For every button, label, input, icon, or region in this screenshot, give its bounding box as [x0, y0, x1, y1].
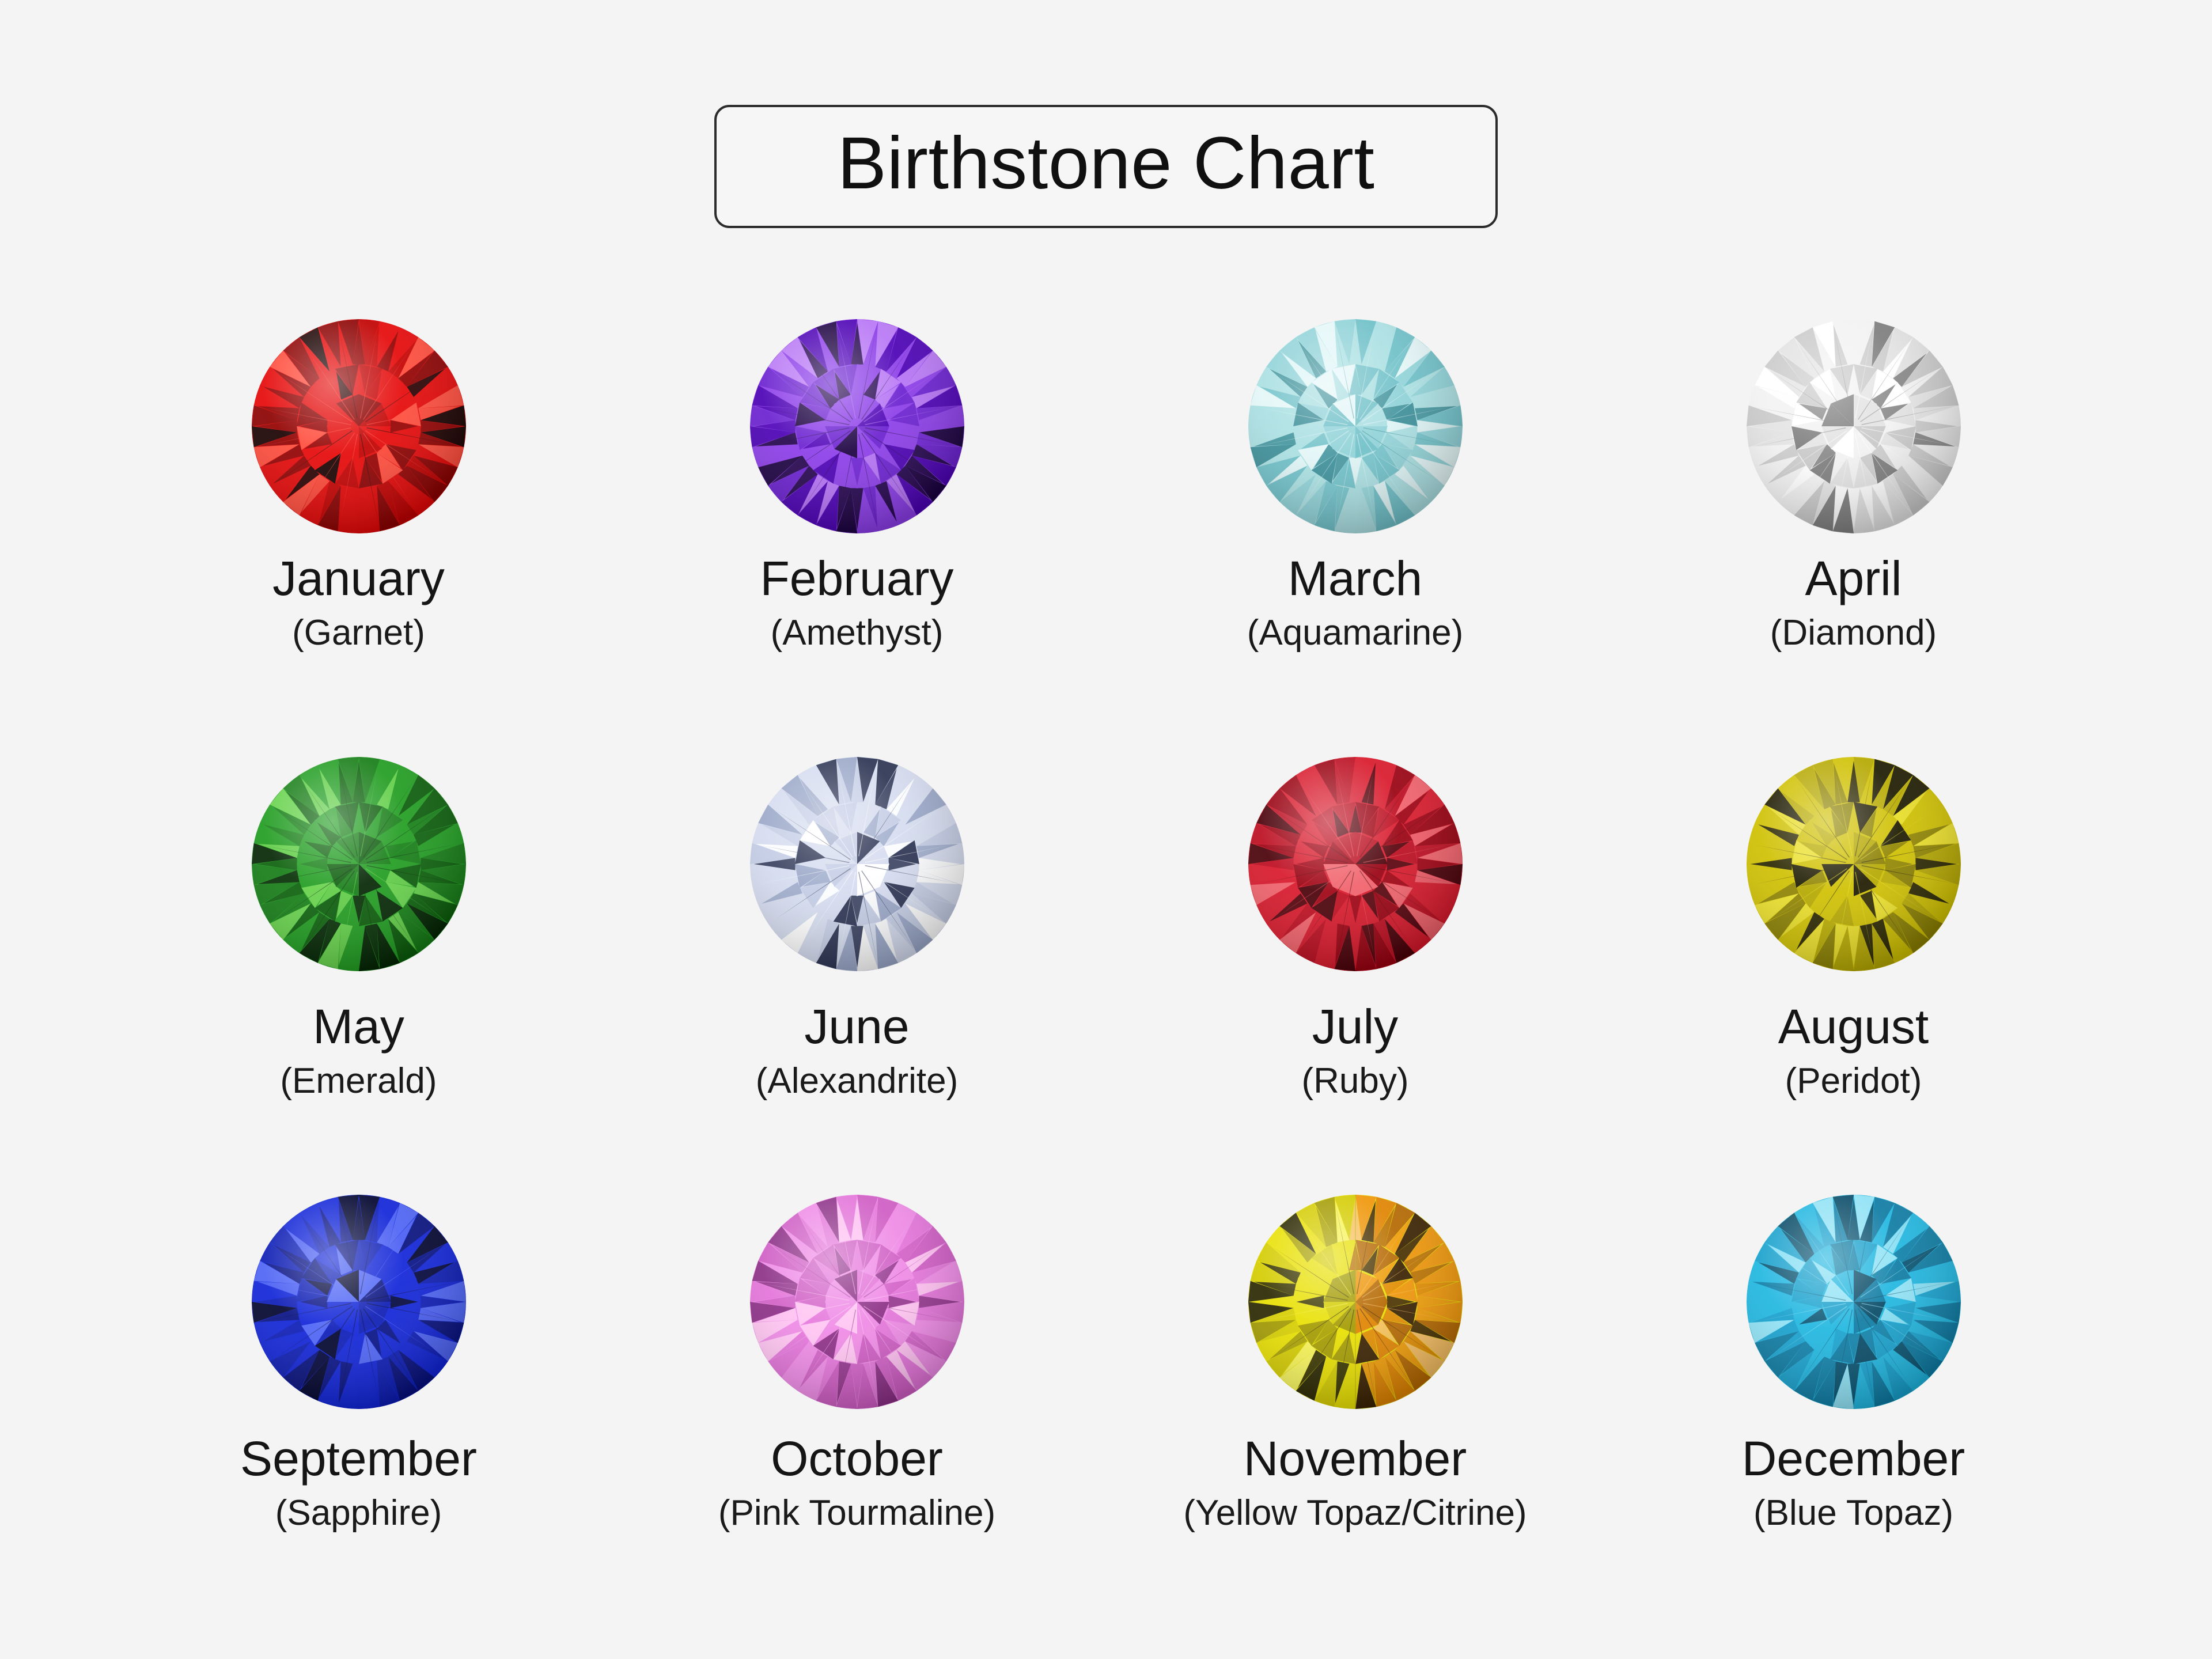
birthstone-cell-april[interactable]: April(Diamond): [1604, 311, 2103, 749]
round-brilliant-gem-icon: [1240, 749, 1471, 979]
month-label: December: [1742, 1434, 1965, 1483]
stone-label: (Diamond): [1770, 615, 1937, 651]
month-label: July: [1312, 1002, 1398, 1051]
round-brilliant-gem-icon: [1738, 1187, 1969, 1417]
stone-label: (Garnet): [292, 615, 425, 651]
month-label: November: [1244, 1434, 1467, 1483]
stone-label: (Amethyst): [771, 615, 944, 651]
round-brilliant-gem-icon: [742, 749, 972, 979]
birthstone-chart-root: Birthstone Chart January(Garnet) Februar…: [0, 0, 2212, 1659]
round-brilliant-gem-icon: [742, 311, 972, 541]
stone-label: (Peridot): [1785, 1063, 1922, 1099]
round-brilliant-gem-icon: [742, 1187, 972, 1417]
stone-label: (Alexandrite): [756, 1063, 958, 1099]
stone-label: (Yellow Topaz/Citrine): [1183, 1495, 1527, 1531]
month-label: May: [313, 1002, 404, 1051]
month-label: June: [804, 1002, 909, 1051]
round-brilliant-gem-icon: [1738, 311, 1969, 541]
birthstone-cell-july[interactable]: July(Ruby): [1106, 749, 1604, 1187]
birthstone-cell-november[interactable]: November(Yellow Topaz/Citrine): [1106, 1187, 1604, 1624]
round-brilliant-gem-icon: [244, 311, 474, 541]
round-brilliant-gem-icon: [244, 749, 474, 979]
month-label: October: [771, 1434, 943, 1483]
stone-label: (Sapphire): [275, 1495, 442, 1531]
birthstone-grid: January(Garnet) February(Amethyst) March…: [109, 311, 2103, 1624]
month-label: April: [1805, 554, 1902, 603]
round-brilliant-gem-icon: [1240, 311, 1471, 541]
month-label: January: [272, 554, 445, 603]
month-label: September: [240, 1434, 477, 1483]
month-label: March: [1288, 554, 1422, 603]
stone-label: (Blue Topaz): [1753, 1495, 1953, 1531]
month-label: February: [760, 554, 953, 603]
stone-label: (Aquamarine): [1247, 615, 1464, 651]
round-brilliant-gem-icon: [1240, 1187, 1471, 1417]
stone-label: (Ruby): [1301, 1063, 1408, 1099]
birthstone-cell-may[interactable]: May(Emerald): [109, 749, 608, 1187]
birthstone-cell-february[interactable]: February(Amethyst): [608, 311, 1106, 749]
title-box: Birthstone Chart: [714, 105, 1498, 228]
round-brilliant-gem-icon: [1738, 749, 1969, 979]
stone-label: (Pink Tourmaline): [718, 1495, 995, 1531]
birthstone-cell-january[interactable]: January(Garnet): [109, 311, 608, 749]
round-brilliant-gem-icon: [244, 1187, 474, 1417]
birthstone-cell-october[interactable]: October(Pink Tourmaline): [608, 1187, 1106, 1624]
birthstone-cell-june[interactable]: June(Alexandrite): [608, 749, 1106, 1187]
birthstone-cell-march[interactable]: March(Aquamarine): [1106, 311, 1604, 749]
birthstone-cell-august[interactable]: August(Peridot): [1604, 749, 2103, 1187]
page-title: Birthstone Chart: [838, 127, 1375, 200]
birthstone-cell-september[interactable]: September(Sapphire): [109, 1187, 608, 1624]
birthstone-cell-december[interactable]: December(Blue Topaz): [1604, 1187, 2103, 1624]
title-container: Birthstone Chart: [0, 105, 2212, 228]
month-label: August: [1778, 1002, 1929, 1051]
stone-label: (Emerald): [280, 1063, 437, 1099]
